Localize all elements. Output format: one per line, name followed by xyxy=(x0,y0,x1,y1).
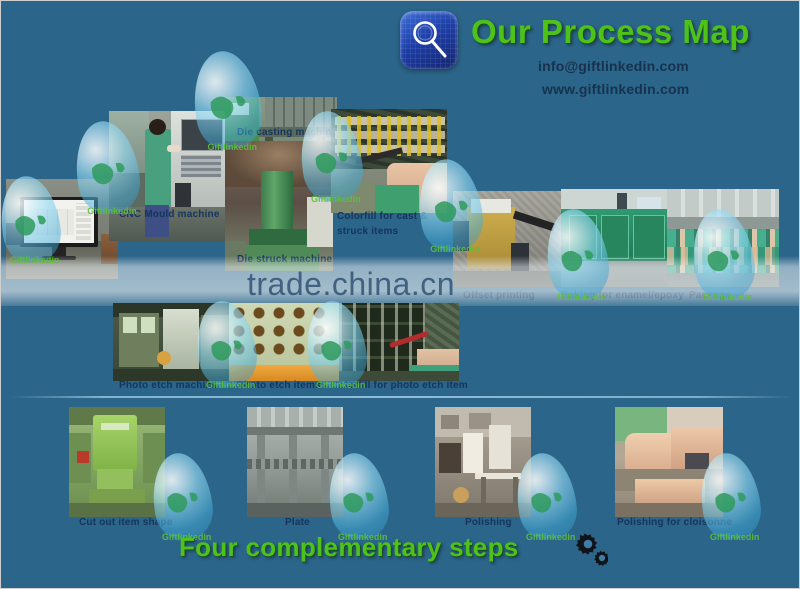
caption-die-casting: Die casting machine xyxy=(237,127,338,138)
caption-photo-etch-machine: Photo etch machine xyxy=(119,380,218,391)
photo-plate xyxy=(247,407,343,517)
caption-plate: Plate xyxy=(285,517,310,528)
contact-website: www.giftlinkedin.com xyxy=(542,81,689,97)
photo-polishing xyxy=(435,407,531,517)
magnifier-icon xyxy=(400,11,458,69)
caption-polishing: Polishing xyxy=(465,517,512,528)
photo-cnc-mould xyxy=(109,111,231,241)
page-title: Our Process Map xyxy=(471,13,750,51)
contact-email: info@giftlinkedin.com xyxy=(538,58,689,74)
page-header: Our Process Map info@giftlinkedin.com ww… xyxy=(1,1,800,111)
photo-die-struck xyxy=(225,141,333,271)
caption-colorfill-cast: Colorfill for cast & struck items xyxy=(337,209,453,239)
caption-photo-etch-items: Photo etch items xyxy=(237,380,321,391)
caption-cnc-mould: CNC Mould machine xyxy=(119,209,220,220)
gear-icon xyxy=(566,533,608,572)
photo-cut-out xyxy=(69,407,165,517)
caption-polishing-cloisonne: Polishing for cloisonne xyxy=(617,517,732,528)
caption-cut-out: Cut out item shape xyxy=(79,517,173,528)
footer-title: Four complementary steps xyxy=(179,532,519,563)
process-map-page: Our Process Map info@giftlinkedin.com ww… xyxy=(0,0,800,589)
photo-etch-machine xyxy=(113,303,231,381)
watermark-text: trade.china.cn xyxy=(247,266,455,303)
photo-etch-items xyxy=(229,303,341,381)
globe-label: Giftlinkedin xyxy=(703,532,766,542)
caption-colorfill-etch: Colorfill for photo etch item xyxy=(331,380,468,391)
photo-colorfill-etch xyxy=(339,303,459,381)
section-divider xyxy=(9,396,793,398)
photo-colorfill-cast xyxy=(331,109,447,213)
photo-polishing-cloisonne xyxy=(615,407,723,517)
